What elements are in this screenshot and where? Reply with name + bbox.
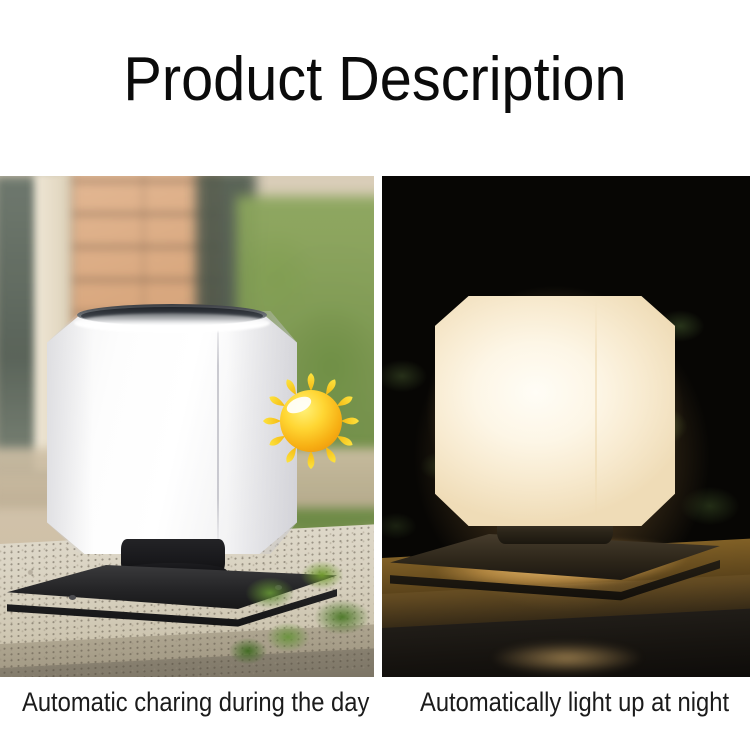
page-title: Product Description [26,47,724,113]
caption-row: Automatic charing during the day Automat… [0,677,750,750]
caption-day: Automatic charing during the day [22,685,369,719]
lamp-top-surface [74,313,270,333]
lamp-diffuser-night [435,296,675,526]
lamp-mounting-plate-night [390,534,720,602]
photo-day[interactable] [0,176,374,677]
lamp-edge-night [595,300,597,520]
foreground-leaves [230,555,374,677]
photo-night[interactable] [382,176,750,677]
light-spill-foreground [472,638,662,677]
lamp-facet-left [47,311,93,554]
sun-icon [258,372,364,470]
lamp-edge [217,313,219,551]
plate-screw [69,595,76,600]
caption-night: Automatically light up at night [420,685,729,719]
title-bar: Product Description [0,0,750,176]
comparison-photo-strip [0,176,750,677]
solar-lamp-night [435,296,675,551]
